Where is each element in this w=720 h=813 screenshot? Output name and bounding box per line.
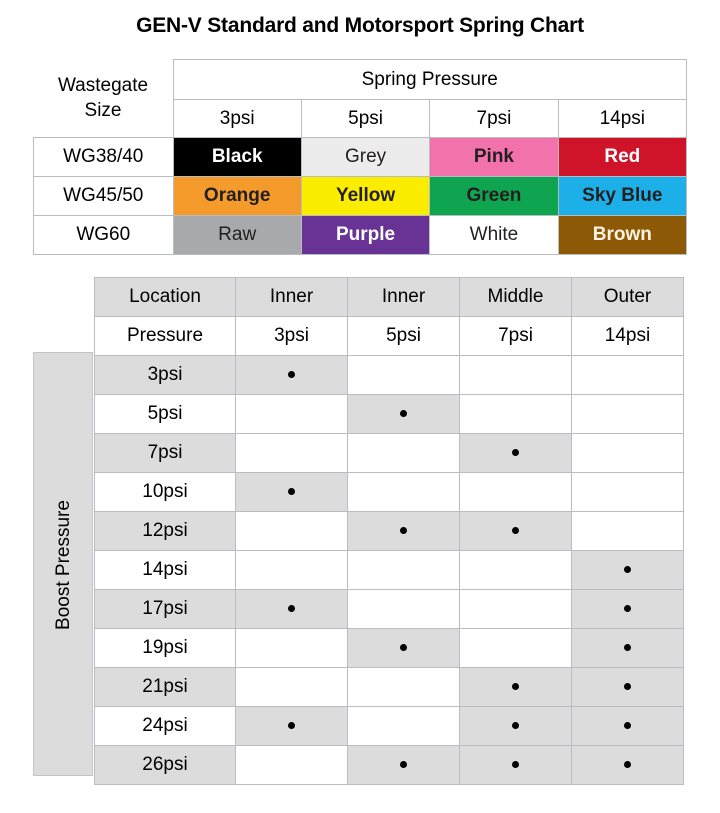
boost-cell-marked bbox=[460, 746, 572, 785]
dot-marker-icon bbox=[624, 683, 631, 690]
boost-cell-empty bbox=[236, 512, 348, 551]
spring-color-cell: Yellow bbox=[301, 177, 429, 216]
location-header-cell-1: Inner bbox=[236, 278, 348, 317]
boost-cell-marked bbox=[348, 629, 460, 668]
boost-cell-marked bbox=[236, 473, 348, 512]
spring-color-cell: Purple bbox=[301, 216, 429, 255]
boost-pressure-header-row: Pressure3psi5psi7psi14psi bbox=[95, 317, 684, 356]
boost-cell-marked bbox=[460, 512, 572, 551]
spring-pressure-column-header-2: 5psi bbox=[301, 100, 429, 138]
boost-cell-marked bbox=[572, 551, 684, 590]
table-row: WG60RawPurpleWhiteBrown bbox=[34, 216, 687, 255]
table-row: WG38/40BlackGreyPinkRed bbox=[34, 138, 687, 177]
boost-cell-empty bbox=[460, 629, 572, 668]
pressure-header-cell-3: 7psi bbox=[460, 317, 572, 356]
wastegate-size-label: WG45/50 bbox=[34, 177, 174, 216]
dot-marker-icon bbox=[512, 722, 519, 729]
table-row: 10psi bbox=[95, 473, 684, 512]
boost-cell-empty bbox=[572, 512, 684, 551]
boost-pressure-row-label: 19psi bbox=[95, 629, 236, 668]
page-title: GEN-V Standard and Motorsport Spring Cha… bbox=[0, 14, 720, 38]
spring-color-cell: Grey bbox=[301, 138, 429, 177]
boost-pressure-row-label: 12psi bbox=[95, 512, 236, 551]
boost-cell-empty bbox=[348, 551, 460, 590]
dot-marker-icon bbox=[400, 410, 407, 417]
table-row: 3psi bbox=[95, 356, 684, 395]
dot-marker-icon bbox=[512, 761, 519, 768]
pressure-header-cell-1: 3psi bbox=[236, 317, 348, 356]
boost-cell-empty bbox=[572, 395, 684, 434]
spring-color-cell: White bbox=[430, 216, 558, 255]
boost-cell-empty bbox=[572, 356, 684, 395]
dot-marker-icon bbox=[288, 488, 295, 495]
dot-marker-icon bbox=[288, 722, 295, 729]
boost-cell-empty bbox=[236, 746, 348, 785]
boost-cell-marked bbox=[460, 707, 572, 746]
boost-cell-empty bbox=[348, 356, 460, 395]
table-row: 12psi bbox=[95, 512, 684, 551]
spring-pressure-table: WastegateSizeSpring Pressure3psi5psi7psi… bbox=[33, 59, 687, 255]
table-row: 26psi bbox=[95, 746, 684, 785]
dot-marker-icon bbox=[512, 527, 519, 534]
table-row: WG45/50OrangeYellowGreenSky Blue bbox=[34, 177, 687, 216]
boost-pressure-row-label: 26psi bbox=[95, 746, 236, 785]
boost-pressure-sidebar: Boost Pressure bbox=[33, 352, 93, 776]
dot-marker-icon bbox=[400, 644, 407, 651]
table-row: 7psi bbox=[95, 434, 684, 473]
boost-cell-marked bbox=[236, 356, 348, 395]
boost-pressure-row-label: 10psi bbox=[95, 473, 236, 512]
boost-cell-empty bbox=[348, 590, 460, 629]
boost-cell-empty bbox=[460, 395, 572, 434]
boost-pressure-row-label: 17psi bbox=[95, 590, 236, 629]
dot-marker-icon bbox=[624, 722, 631, 729]
boost-pressure-row-label: 21psi bbox=[95, 668, 236, 707]
spring-color-cell: Raw bbox=[173, 216, 301, 255]
pressure-header-cell-2: 5psi bbox=[348, 317, 460, 356]
dot-marker-icon bbox=[512, 683, 519, 690]
table-row: 19psi bbox=[95, 629, 684, 668]
dot-marker-icon bbox=[624, 566, 631, 573]
table-row: 14psi bbox=[95, 551, 684, 590]
boost-pressure-row-label: 7psi bbox=[95, 434, 236, 473]
dot-marker-icon bbox=[512, 449, 519, 456]
boost-pressure-section: Boost Pressure LocationInnerInnerMiddleO… bbox=[33, 277, 681, 777]
boost-cell-empty bbox=[460, 551, 572, 590]
boost-cell-empty bbox=[348, 473, 460, 512]
location-header-cell-4: Outer bbox=[572, 278, 684, 317]
table-row: 17psi bbox=[95, 590, 684, 629]
boost-pressure-row-label: 3psi bbox=[95, 356, 236, 395]
boost-cell-marked bbox=[572, 746, 684, 785]
dot-marker-icon bbox=[624, 644, 631, 651]
boost-cell-empty bbox=[348, 707, 460, 746]
location-header-cell-2: Inner bbox=[348, 278, 460, 317]
boost-pressure-sidebar-label: Boost Pressure bbox=[34, 353, 94, 777]
wastegate-size-header: WastegateSize bbox=[34, 60, 174, 138]
table-row: 24psi bbox=[95, 707, 684, 746]
boost-cell-empty bbox=[236, 434, 348, 473]
boost-cell-empty bbox=[572, 434, 684, 473]
boost-cell-marked bbox=[572, 590, 684, 629]
spring-color-cell: Brown bbox=[558, 216, 686, 255]
boost-cell-marked bbox=[236, 590, 348, 629]
boost-cell-empty bbox=[572, 473, 684, 512]
dot-marker-icon bbox=[624, 605, 631, 612]
dot-marker-icon bbox=[288, 605, 295, 612]
boost-cell-empty bbox=[460, 473, 572, 512]
spring-pressure-column-header-3: 7psi bbox=[430, 100, 558, 138]
location-header-label: Location bbox=[95, 278, 236, 317]
boost-cell-marked bbox=[460, 434, 572, 473]
boost-cell-empty bbox=[348, 668, 460, 707]
boost-cell-marked bbox=[348, 746, 460, 785]
table-row: 21psi bbox=[95, 668, 684, 707]
spring-color-cell: Pink bbox=[430, 138, 558, 177]
spring-pressure-column-header-1: 3psi bbox=[173, 100, 301, 138]
boost-cell-marked bbox=[572, 668, 684, 707]
wastegate-size-header-line1: Wastegate bbox=[34, 73, 173, 99]
boost-cell-marked bbox=[572, 629, 684, 668]
boost-pressure-row-label: 5psi bbox=[95, 395, 236, 434]
spring-pressure-column-header-4: 14psi bbox=[558, 100, 686, 138]
boost-cell-marked bbox=[460, 668, 572, 707]
boost-cell-empty bbox=[460, 590, 572, 629]
wastegate-size-header-line2: Size bbox=[34, 98, 173, 124]
dot-marker-icon bbox=[400, 527, 407, 534]
spring-color-cell: Orange bbox=[173, 177, 301, 216]
spring-pressure-group-header: Spring Pressure bbox=[173, 60, 687, 100]
boost-cell-marked bbox=[236, 707, 348, 746]
boost-cell-empty bbox=[236, 668, 348, 707]
boost-cell-empty bbox=[348, 434, 460, 473]
boost-pressure-row-label: 14psi bbox=[95, 551, 236, 590]
wastegate-size-label: WG38/40 bbox=[34, 138, 174, 177]
pressure-header-label: Pressure bbox=[95, 317, 236, 356]
boost-location-header-row: LocationInnerInnerMiddleOuter bbox=[95, 278, 684, 317]
pressure-header-cell-4: 14psi bbox=[572, 317, 684, 356]
table-row: 5psi bbox=[95, 395, 684, 434]
boost-pressure-row-label: 24psi bbox=[95, 707, 236, 746]
location-header-cell-3: Middle bbox=[460, 278, 572, 317]
spring-color-cell: Red bbox=[558, 138, 686, 177]
dot-marker-icon bbox=[624, 761, 631, 768]
boost-cell-marked bbox=[572, 707, 684, 746]
dot-marker-icon bbox=[400, 761, 407, 768]
wastegate-size-label: WG60 bbox=[34, 216, 174, 255]
boost-cell-empty bbox=[236, 629, 348, 668]
boost-cell-empty bbox=[236, 551, 348, 590]
boost-cell-empty bbox=[460, 356, 572, 395]
spring-color-cell: Sky Blue bbox=[558, 177, 686, 216]
boost-pressure-table: LocationInnerInnerMiddleOuterPressure3ps… bbox=[94, 277, 684, 785]
boost-cell-marked bbox=[348, 395, 460, 434]
dot-marker-icon bbox=[288, 371, 295, 378]
boost-cell-marked bbox=[348, 512, 460, 551]
boost-cell-empty bbox=[236, 395, 348, 434]
spring-color-cell: Black bbox=[173, 138, 301, 177]
spring-color-cell: Green bbox=[430, 177, 558, 216]
